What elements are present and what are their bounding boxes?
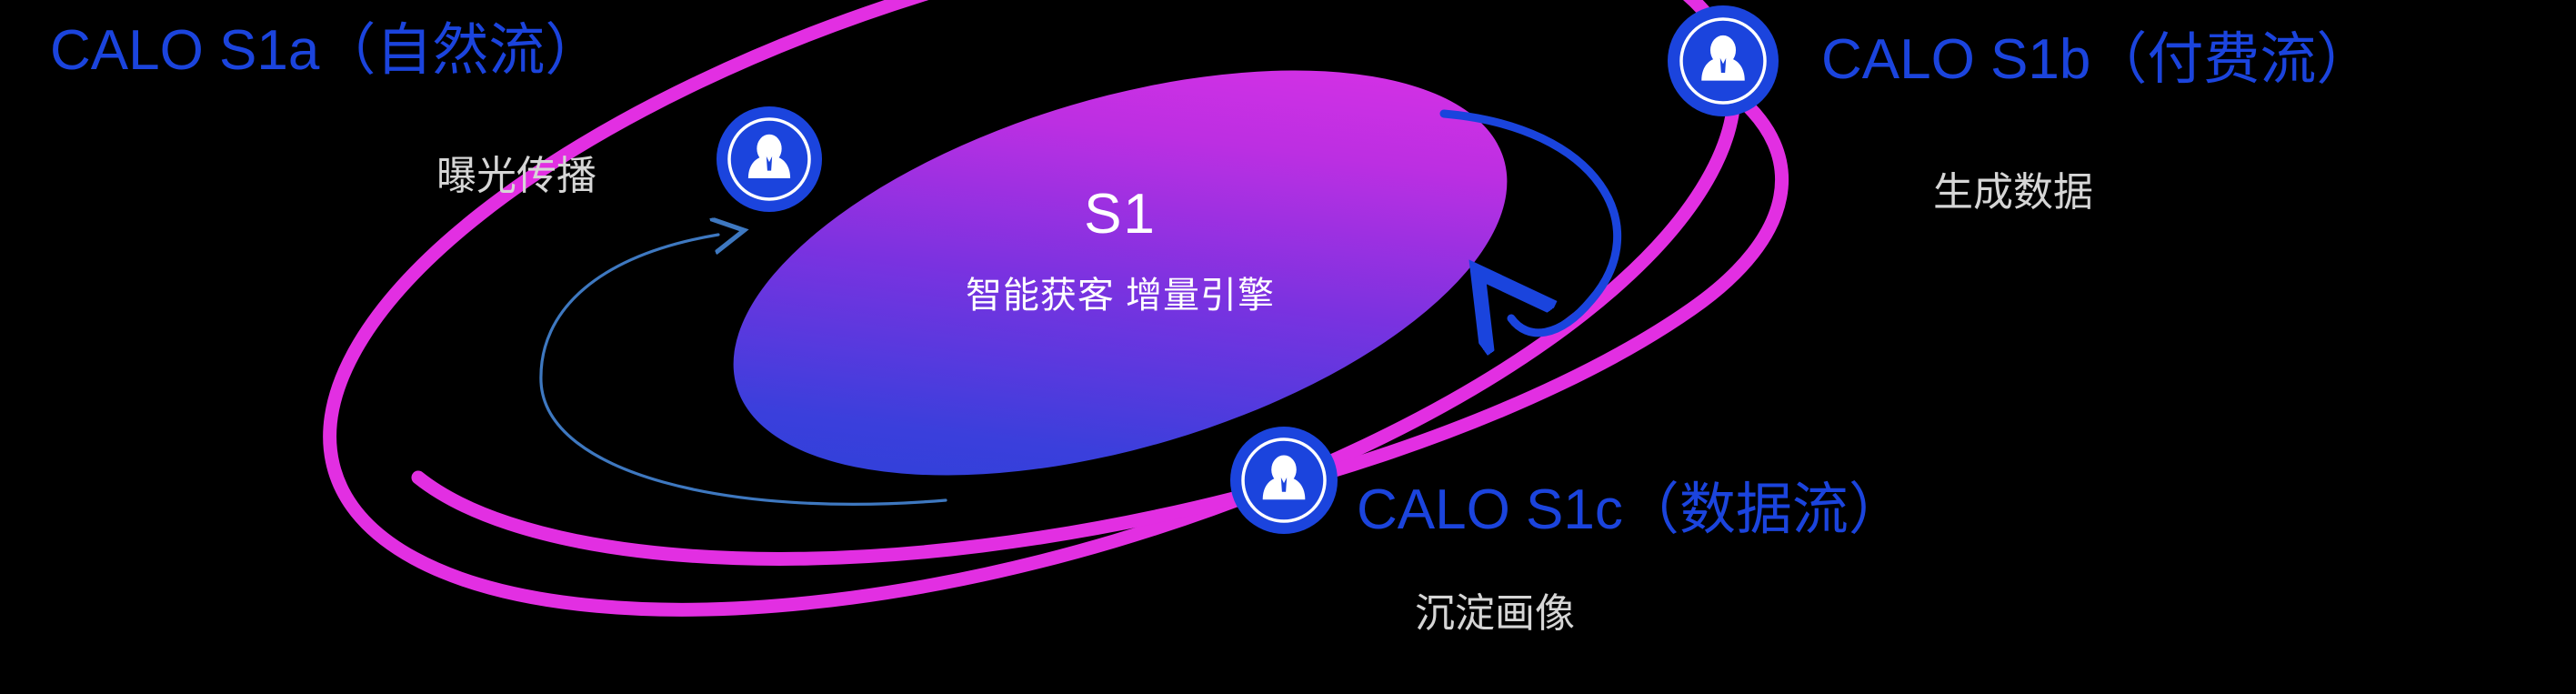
core-title: S1 — [1084, 186, 1157, 243]
diagram-canvas: S1 智能获客 增量引擎 CALO S1a（自然流） 曝光传播 CALO S1b… — [0, 0, 2576, 694]
node-label-s1c-title: CALO S1c（数据流） — [1357, 482, 1905, 538]
node-label-s1b-subtitle-text: 生成数据 — [1933, 173, 2093, 213]
core-subtitle: 智能获客 增量引擎 — [966, 277, 1275, 314]
node-label-s1a-subtitle: 曝光传播 — [436, 156, 596, 196]
node-label-s1b-title: CALO S1b（付费流） — [1821, 32, 2372, 88]
node-badge-s1c[interactable] — [1230, 427, 1338, 534]
node-label-s1a-title: CALO S1a（自然流） — [50, 23, 601, 79]
node-label-s1c-subtitle: 沉淀画像 — [1415, 594, 1575, 634]
orbit-graphics — [0, 0, 2576, 694]
node-badge-s1b[interactable] — [1668, 5, 1779, 116]
node-badge-s1a[interactable] — [717, 106, 822, 212]
